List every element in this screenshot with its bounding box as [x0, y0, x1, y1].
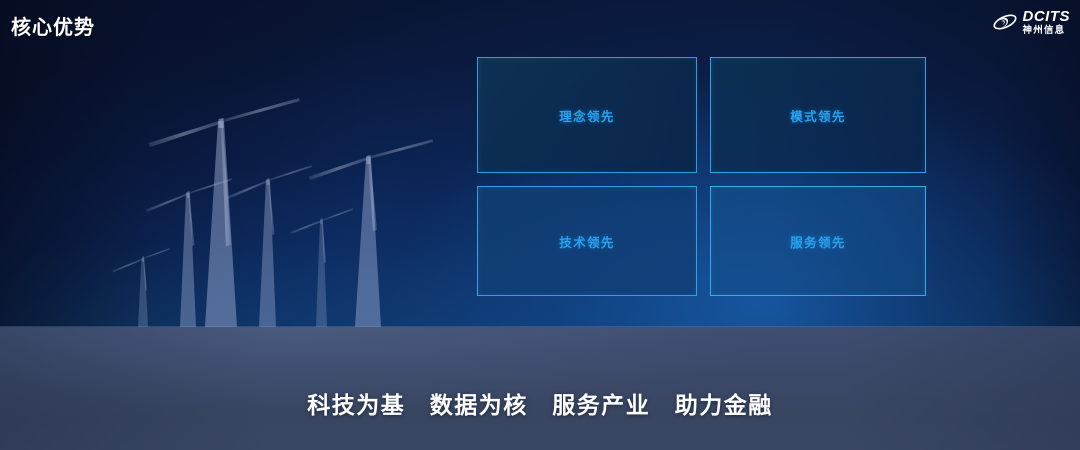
turbine-2 — [309, 139, 433, 327]
slide-canvas: 核心优势 DCITS 神州信息 理念领先 模式领先 技术领先 服务领先 — [0, 0, 1080, 450]
turbine-6 — [112, 248, 170, 327]
dcits-swoosh-icon — [992, 9, 1018, 35]
advantage-card-1-label: 理念领先 — [559, 106, 615, 125]
advantage-card-4-label: 服务领先 — [790, 232, 846, 251]
logo-chinese-text: 神州信息 — [1023, 26, 1071, 36]
logo-wordmark: DCITS 神州信息 — [1023, 9, 1071, 36]
slide-tagline: 科技为基 数据为核 服务产业 助力金融 — [0, 386, 1080, 420]
logo-english-text: DCITS — [1023, 9, 1071, 24]
page-title: 核心优势 — [11, 11, 95, 40]
advantage-card-grid: 理念领先 模式领先 技术领先 服务领先 — [477, 57, 926, 297]
brand-logo: DCITS 神州信息 — [992, 9, 1071, 36]
advantage-card-3-label: 技术领先 — [559, 232, 615, 251]
turbine-1 — [149, 98, 300, 327]
turbine-3 — [290, 208, 353, 327]
advantage-card-1[interactable]: 理念领先 — [477, 57, 697, 173]
advantage-card-2-label: 模式领先 — [790, 106, 846, 125]
advantage-card-2[interactable]: 模式领先 — [710, 57, 926, 173]
advantage-card-4[interactable]: 服务领先 — [710, 186, 926, 296]
advantage-card-3[interactable]: 技术领先 — [477, 186, 697, 296]
turbine-4 — [227, 165, 312, 327]
horizon-line — [0, 326, 1080, 327]
